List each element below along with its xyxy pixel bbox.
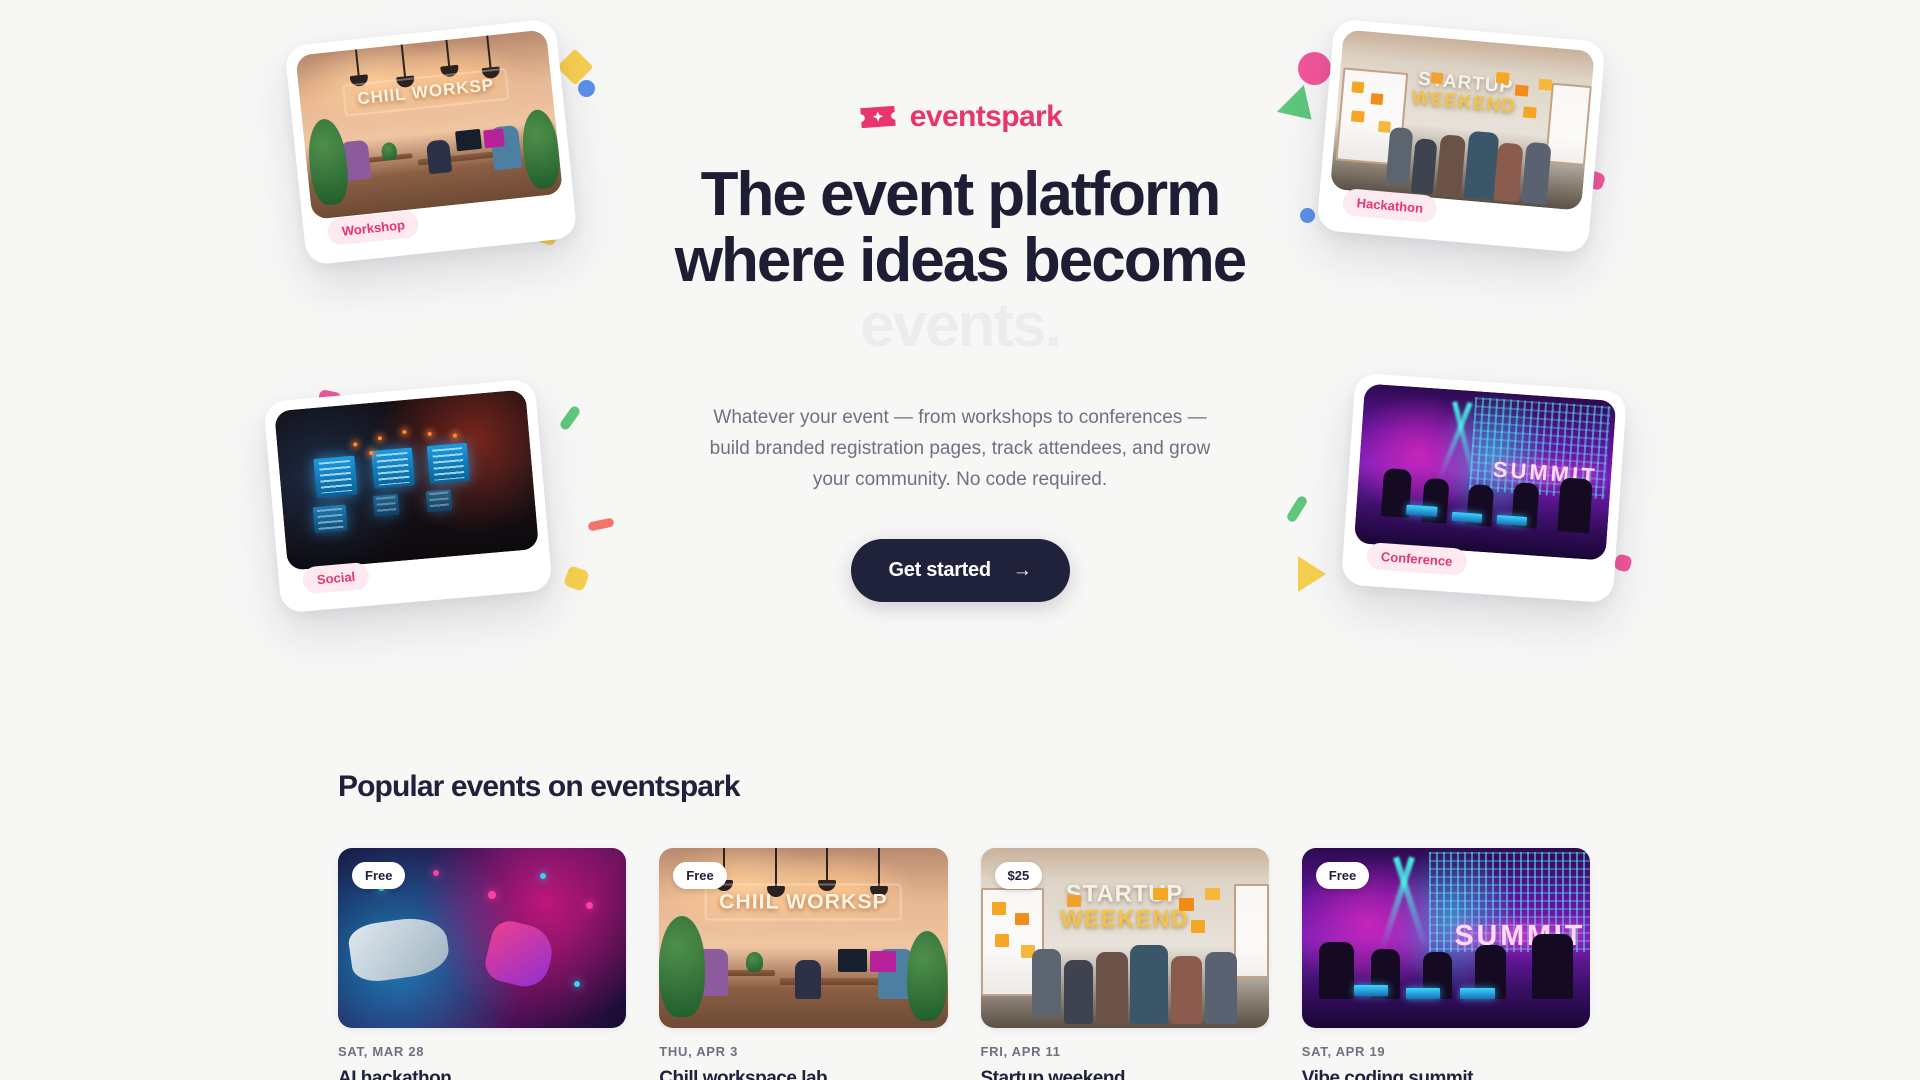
floating-card-thumb: STARTUP WEEKEND	[1330, 29, 1595, 210]
hero-subhead: Whatever your event — from workshops to …	[700, 403, 1220, 495]
decor-circle-pink	[1298, 52, 1331, 85]
decor-square-pink-e	[1613, 553, 1633, 573]
event-image: SUMMIT Free	[1302, 848, 1590, 1028]
event-date: THU, APR 3	[659, 1044, 947, 1059]
decor-triangle-green-b	[1277, 85, 1325, 133]
ticket-icon	[858, 104, 898, 130]
event-price-badge: Free	[1316, 862, 1369, 889]
event-title: AI hackathon	[338, 1068, 626, 1080]
event-image: CHIIL WORKSP Free	[659, 848, 947, 1028]
events-grid: Free SAT, MAR 28 AI hackathon CHIIL WORK…	[338, 848, 1590, 1080]
event-title: Startup weekend	[981, 1068, 1269, 1080]
event-date: SAT, MAR 28	[338, 1044, 626, 1059]
get-started-button[interactable]: Get started →	[851, 539, 1070, 602]
headline-line-1: The event platform	[675, 162, 1246, 228]
social-artwork	[274, 389, 539, 570]
floating-card-workshop[interactable]: CHIIL WORKSP Workshop	[284, 18, 578, 265]
headline-line-2: where ideas become	[675, 228, 1246, 294]
event-price-badge: $25	[995, 862, 1043, 889]
get-started-label: Get started	[889, 559, 991, 582]
floating-card-social[interactable]: Social	[263, 379, 552, 614]
workshop-artwork: CHIIL WORKSP	[295, 29, 563, 219]
page-root: CHIIL WORKSP Workshop STARTUP	[0, 0, 1920, 1080]
floating-card-thumb	[274, 389, 539, 570]
decor-triangle-yellow	[1298, 556, 1326, 592]
floating-card-category: Conference	[1366, 542, 1467, 576]
hackathon-artwork: STARTUP WEEKEND	[1330, 29, 1595, 210]
event-image: Free	[338, 848, 626, 1028]
event-date: FRI, APR 11	[981, 1044, 1269, 1059]
decor-dash-green-b	[1285, 494, 1308, 523]
brand-logo[interactable]: eventspark	[858, 100, 1062, 134]
conference-artwork: SUMMIT	[1354, 383, 1617, 560]
floating-card-hackathon[interactable]: STARTUP WEEKEND Hackathon	[1316, 19, 1605, 254]
event-date: SAT, APR 19	[1302, 1044, 1590, 1059]
arrow-right-icon: →	[1013, 561, 1032, 580]
headline-line-3: events.	[675, 293, 1246, 359]
decor-dash-green	[558, 404, 581, 431]
brand-name: eventspark	[910, 100, 1062, 134]
popular-events-section: Popular events on eventspark	[338, 770, 1590, 1080]
hackathon-sign: STARTUP WEEKEND	[1060, 881, 1188, 934]
event-card[interactable]: CHIIL WORKSP Free THU, APR 3	[659, 848, 947, 1080]
decor-circle-blue-b	[1300, 208, 1315, 223]
decor-square-yellow-b	[563, 565, 590, 592]
page-title: The event platform where ideas become ev…	[675, 162, 1246, 359]
event-title: Chill workspace lab	[659, 1068, 947, 1080]
popular-events-title: Popular events on eventspark	[338, 770, 1590, 804]
floating-card-thumb: SUMMIT	[1354, 383, 1617, 560]
event-title: Vibe coding summit	[1302, 1068, 1590, 1080]
floating-card-conference[interactable]: SUMMIT Conference	[1341, 373, 1627, 603]
floating-card-thumb: CHIIL WORKSP	[295, 29, 563, 219]
floating-card-category: Social	[302, 562, 370, 595]
event-card[interactable]: STARTUP WEEKEND	[981, 848, 1269, 1080]
event-card[interactable]: SUMMIT Free SAT, APR 19 Vibe coding summ…	[1302, 848, 1590, 1080]
event-price-badge: Free	[352, 862, 405, 889]
decor-circle-blue	[578, 80, 595, 97]
event-image: STARTUP WEEKEND	[981, 848, 1269, 1028]
event-card[interactable]: Free SAT, MAR 28 AI hackathon	[338, 848, 626, 1080]
decor-dash-coral	[587, 517, 614, 531]
event-price-badge: Free	[673, 862, 726, 889]
workshop-sign-text: CHIIL WORKSP	[705, 884, 902, 921]
